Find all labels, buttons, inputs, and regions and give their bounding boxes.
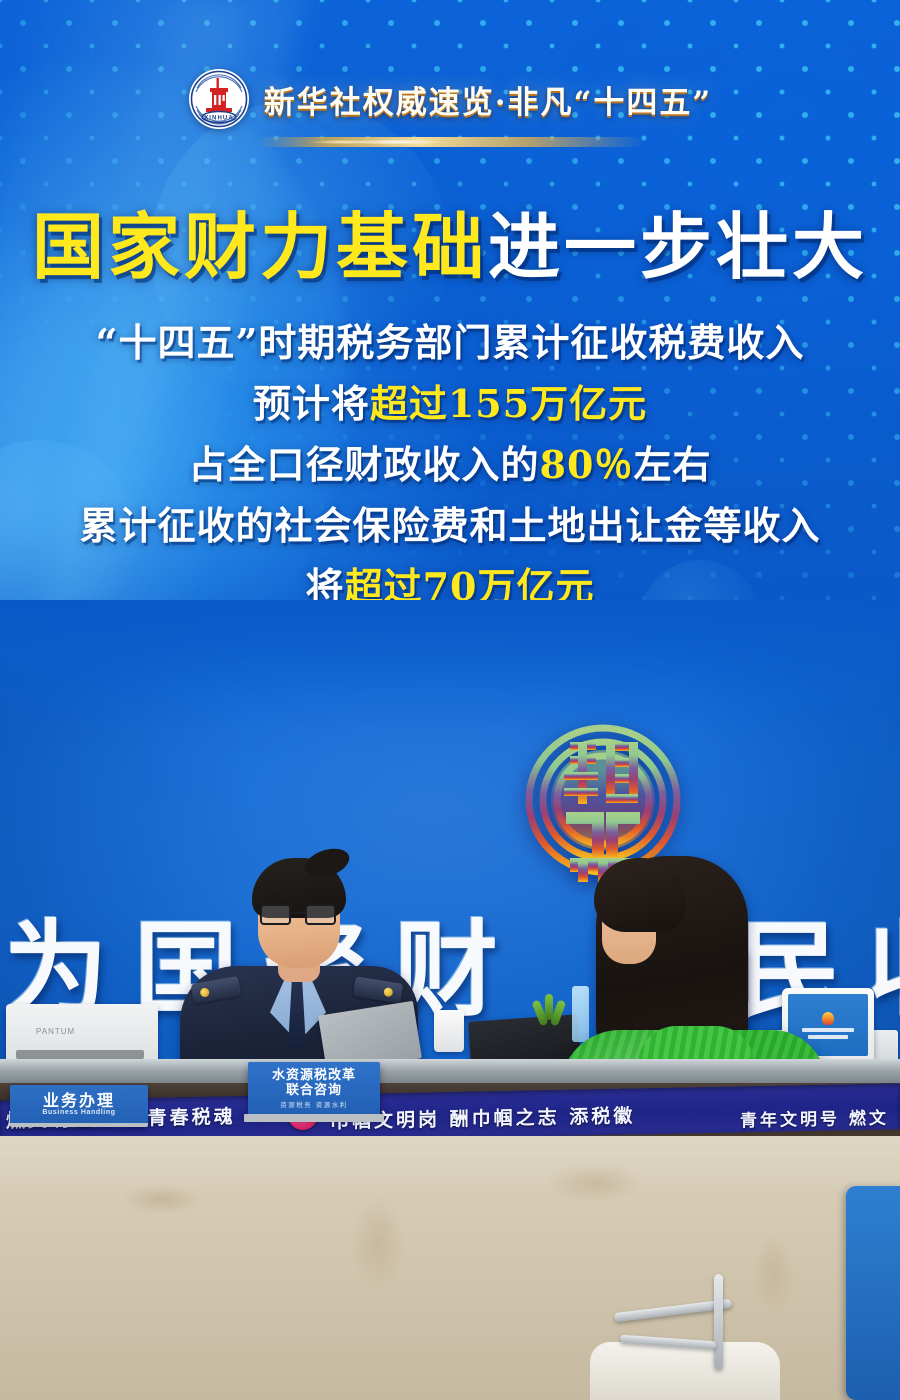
business-handling-sign-en: Business Handling	[42, 1109, 115, 1116]
xinhua-logo-icon: XINHUA	[188, 68, 250, 130]
desk-cup	[434, 1010, 464, 1052]
page-title: 国家财力基础进一步壮大	[0, 188, 900, 293]
business-handling-sign-cn: 业务办理	[43, 1092, 115, 1109]
subtitle-1-part-1: “十四五”时期税务部门累计征收税费收入	[96, 320, 805, 365]
customer-hair-front	[594, 858, 686, 932]
page-title-highlight: 国家财力基础	[32, 204, 488, 289]
chair-bar-2	[714, 1274, 723, 1370]
subtitle-line-4: 累计征收的社会保险费和土地出让金等收入	[0, 495, 900, 550]
blue-chair	[846, 1186, 900, 1400]
subtitle-4-part-1: 累计征收的社会保险费和土地出让金等收入	[79, 503, 820, 548]
epaulette-star-left	[200, 987, 210, 997]
subtitle-3-part-2: 80％	[540, 442, 634, 487]
officer-glasses-icon	[260, 904, 338, 925]
subtitle-line-3: 占全口径财政收入的80％左右	[0, 434, 900, 489]
subtitle-3-part-1: 占全口径财政收入的	[189, 442, 540, 487]
glasses-lens-right	[305, 904, 336, 925]
svg-text:XINHUA: XINHUA	[204, 115, 234, 121]
water-tax-sign-line-3: 资源税务 资源水利	[280, 1099, 348, 1109]
header-title: 新华社权威速览·非凡“十四五”	[264, 77, 712, 122]
subtitle-2-part-1: 预计将	[253, 381, 370, 426]
glasses-lens-left	[260, 904, 291, 925]
infographic-poster: XINHUA 新华社权威速览·非凡“十四五” 国家财力基础进一步壮大 “十四五”…	[0, 0, 900, 1400]
tax-office-photo: 为 国 聚 财 为 民 收	[0, 600, 900, 1400]
counter-banner-text-right: 青年文明号 燃文	[740, 1096, 889, 1139]
chair-bar-3	[620, 1335, 716, 1350]
epaulette-star-right	[383, 987, 393, 997]
printer-brand-label: PANTUM	[36, 1027, 75, 1036]
water-tax-sign-base	[244, 1114, 384, 1122]
subtitle-line-1: “十四五”时期税务部门累计征收税费收入	[0, 312, 900, 367]
subtitle-2-part-2: 超过155万亿元	[370, 381, 647, 426]
metal-chair	[614, 1260, 744, 1390]
subtitle-line-2: 预计将超过155万亿元	[0, 373, 900, 428]
subtitle-3-part-3: 左右	[633, 442, 711, 487]
business-handling-sign: 业务办理 Business Handling	[10, 1085, 148, 1127]
water-tax-consultation-sign: 水资源税改革 联合咨询 资源税务 资源水利	[248, 1062, 380, 1116]
poster-header: XINHUA 新华社权威速览·非凡“十四五”	[0, 56, 900, 142]
glasses-bridge	[291, 912, 305, 914]
water-tax-sign-line-1: 水资源税改革	[272, 1069, 356, 1083]
water-tax-sign-line-2: 联合咨询	[286, 1084, 342, 1098]
page-title-rest: 进一步壮大	[488, 204, 868, 289]
printer-paper-slot	[16, 1050, 144, 1059]
